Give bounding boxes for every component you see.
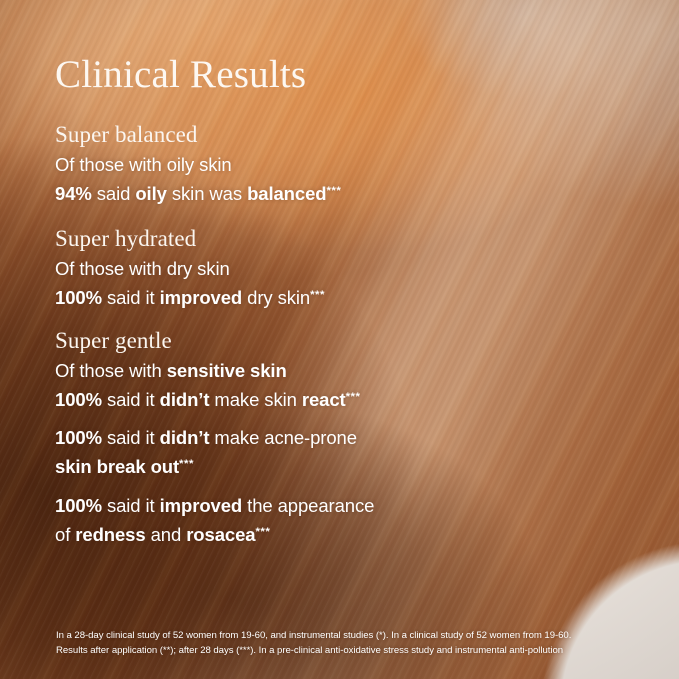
study-disclaimer: In a 28-day clinical study of 52 women f…: [56, 628, 656, 658]
page-title: Clinical Results: [55, 52, 306, 98]
stat-line: 100% said it improved dry skin***: [55, 282, 615, 311]
stat-emphasis: skin break out: [55, 456, 179, 477]
footnote-marker: ***: [346, 391, 361, 403]
stat-line: Of those with oily skin: [55, 152, 615, 178]
stat-text: said it: [102, 495, 160, 516]
stat-text: make skin: [209, 389, 301, 410]
stat-text: said it: [102, 389, 160, 410]
section-super-balanced: Super balanced Of those with oily skin94…: [55, 120, 615, 207]
stat-text: the appearance: [242, 495, 374, 516]
section-heading: Super hydrated: [55, 224, 615, 254]
stat-emphasis: didn’t: [160, 389, 210, 410]
section-acne-prone: 100% said it didn’t make acne-proneskin …: [55, 425, 615, 480]
stat-line: skin break out***: [55, 451, 615, 480]
stat-emphasis: sensitive skin: [167, 360, 287, 381]
stat-line: Of those with sensitive skin: [55, 358, 615, 384]
stat-text: of: [55, 524, 75, 545]
stat-text: Of those with: [55, 360, 167, 381]
stat-emphasis: 100%: [55, 389, 102, 410]
section-heading: Super gentle: [55, 326, 615, 356]
disclaimer-line-2: Results after application (**); after 28…: [56, 643, 656, 658]
section-super-gentle: Super gentle Of those with sensitive ski…: [55, 326, 615, 413]
stat-line: of redness and rosacea***: [55, 519, 615, 548]
stat-text: said: [92, 183, 136, 204]
stat-emphasis: improved: [160, 495, 242, 516]
footnote-marker: ***: [179, 458, 194, 470]
stat-text: dry skin: [242, 287, 310, 308]
stat-emphasis: 100%: [55, 427, 102, 448]
section-heading: Super balanced: [55, 120, 615, 150]
stat-emphasis: oily: [135, 183, 166, 204]
stat-emphasis: redness: [75, 524, 145, 545]
footnote-marker: ***: [255, 526, 270, 538]
footnote-marker: ***: [310, 289, 325, 301]
stat-text: make acne-prone: [209, 427, 357, 448]
section-lines: Of those with oily skin94% said oily ski…: [55, 152, 615, 207]
clinical-results-graphic: Clinical Results Super balanced Of those…: [0, 0, 679, 679]
stat-line: 100% said it improved the appearance: [55, 493, 615, 519]
stat-emphasis: react: [302, 389, 346, 410]
stat-emphasis: 94%: [55, 183, 92, 204]
stat-text: skin was: [167, 183, 247, 204]
stat-line: 100% said it didn’t make skin react***: [55, 384, 615, 413]
stat-text: said it: [102, 287, 160, 308]
section-super-hydrated: Super hydrated Of those with dry skin100…: [55, 224, 615, 311]
footnote-marker: ***: [326, 185, 341, 197]
section-lines: Of those with sensitive skin100% said it…: [55, 358, 615, 413]
stat-line: 94% said oily skin was balanced***: [55, 178, 615, 207]
stat-emphasis: didn’t: [160, 427, 210, 448]
stat-emphasis: improved: [160, 287, 242, 308]
section-lines: 100% said it improved the appearanceof r…: [55, 493, 615, 548]
stat-emphasis: 100%: [55, 495, 102, 516]
stat-text: said it: [102, 427, 160, 448]
stat-emphasis: rosacea: [186, 524, 255, 545]
stat-emphasis: 100%: [55, 287, 102, 308]
section-lines: Of those with dry skin100% said it impro…: [55, 256, 615, 311]
disclaimer-line-1: In a 28-day clinical study of 52 women f…: [56, 628, 656, 643]
stat-line: Of those with dry skin: [55, 256, 615, 282]
stat-text: Of those with dry skin: [55, 258, 230, 279]
stat-text: Of those with oily skin: [55, 154, 232, 175]
stat-text: and: [146, 524, 187, 545]
stat-emphasis: balanced: [247, 183, 326, 204]
section-redness-rosacea: 100% said it improved the appearanceof r…: [55, 493, 615, 548]
section-lines: 100% said it didn’t make acne-proneskin …: [55, 425, 615, 480]
stat-line: 100% said it didn’t make acne-prone: [55, 425, 615, 451]
